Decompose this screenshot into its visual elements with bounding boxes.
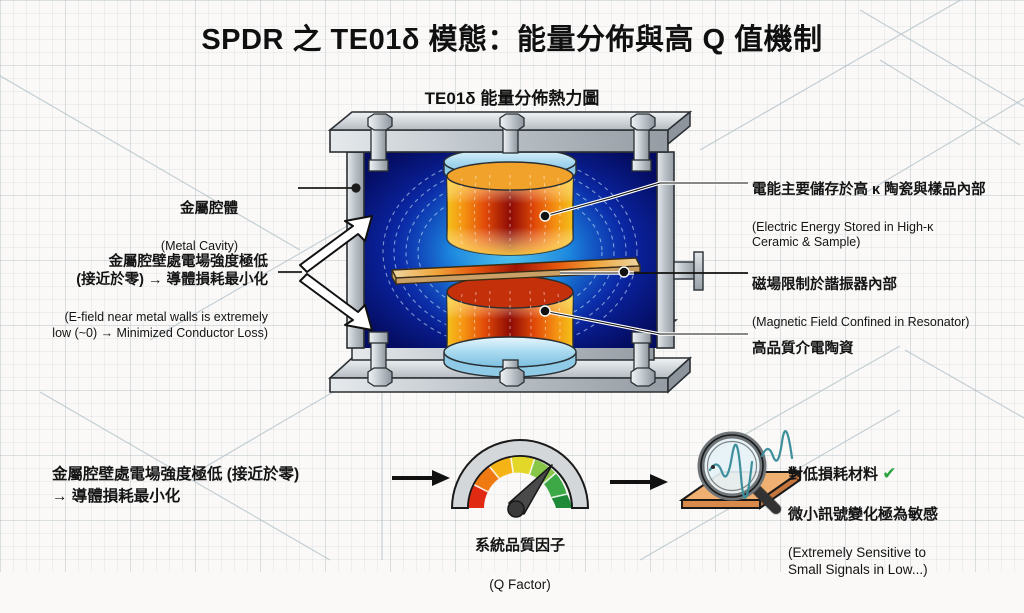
- callout-ceramic-zh: 高品質介電陶資: [752, 340, 1024, 358]
- callout-efield-walls-zh: 金屬腔壁處電場強度極低 (接近於零) → 導體損耗最小化: [6, 253, 268, 290]
- callout-electric-energy-en: (Electric Energy Stored in High-κ Cerami…: [752, 220, 1024, 252]
- sensitivity-line2: 微小訊號變化極為敏感: [788, 505, 1024, 525]
- upper-dielectric-resonator: [444, 148, 576, 255]
- gauge-caption: 系統品質因子 (Q Factor): [432, 517, 608, 613]
- callout-efield-walls: 金屬腔壁處電場強度極低 (接近於零) → 導體損耗最小化 (E-field ne…: [6, 233, 268, 362]
- callout-metal-cavity-zh: 金屬腔體: [38, 200, 238, 218]
- summary-statement: 金屬腔壁處電場強度極低 (接近於零) → 導體損耗最小化: [52, 464, 412, 509]
- slide-canvas: SPDR 之 TE01δ 模態：能量分佈與高 Q 值機制 TE01δ 能量分佈熱…: [0, 0, 1024, 572]
- sensitivity-en: (Extremely Sensitive to Small Signals in…: [788, 545, 1024, 579]
- coupling-port: [674, 252, 703, 290]
- callout-electric-energy: 電能主要儲存於高 κ 陶瓷與樣品內部 (Electric Energy Stor…: [752, 161, 1024, 271]
- sensitivity-caption: 對低損耗材料 ✔ 微小訊號變化極為敏感 (Extremely Sensitive…: [788, 443, 1024, 599]
- gauge-caption-zh: 系統品質因子: [432, 537, 608, 556]
- callout-magnetic-field-zh: 磁場限制於諧振器內部: [752, 276, 1024, 294]
- callout-electric-energy-zh: 電能主要儲存於高 κ 陶瓷與樣品內部: [752, 181, 1024, 199]
- callout-ceramic: 高品質介電陶資: [752, 320, 1024, 379]
- check-icon: ✔: [882, 464, 896, 483]
- sensitivity-line1: 對低損耗材料 ✔: [788, 463, 1024, 485]
- gauge-caption-en: (Q Factor): [432, 576, 608, 593]
- callout-efield-walls-en: (E-field near metal walls is extremely l…: [6, 310, 268, 342]
